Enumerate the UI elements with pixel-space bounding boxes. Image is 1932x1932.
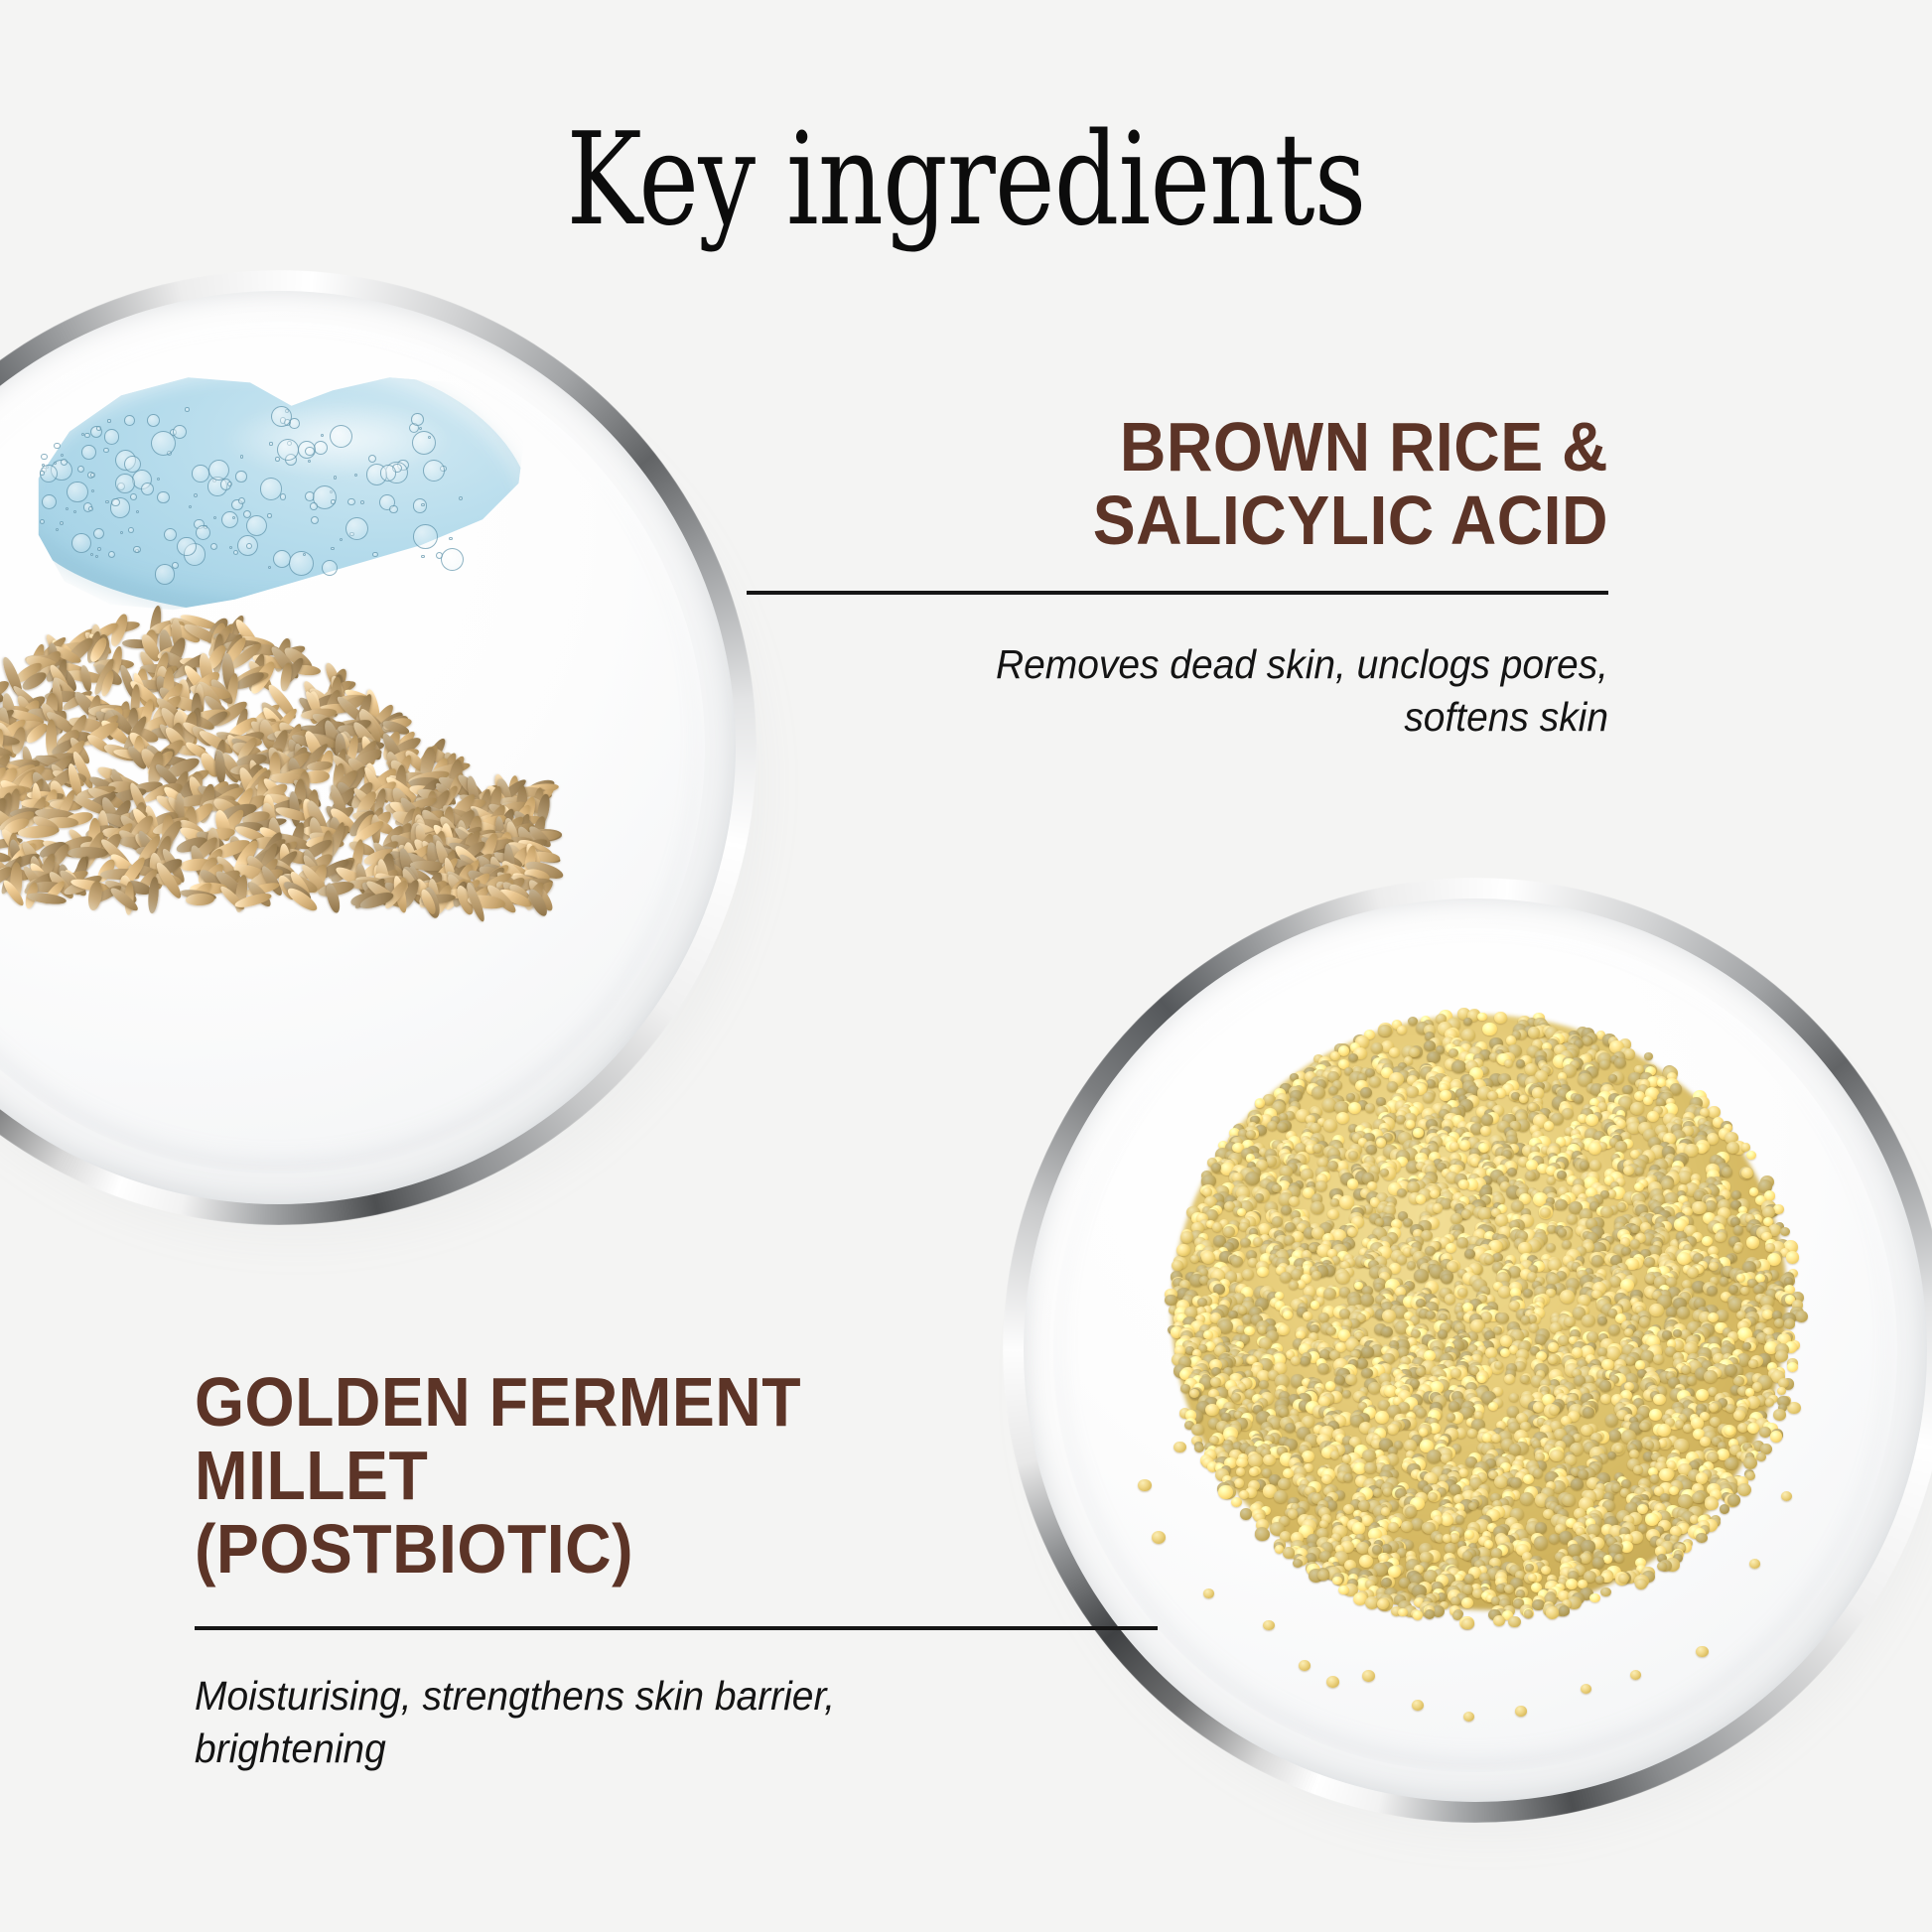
millet-seed bbox=[1404, 1440, 1417, 1451]
gel-bubble bbox=[60, 521, 64, 525]
gel-bubble bbox=[246, 515, 267, 536]
millet-seed bbox=[1622, 1085, 1632, 1094]
gel-bubble bbox=[147, 414, 160, 427]
gel-bubble bbox=[411, 413, 424, 426]
gel-bubble bbox=[66, 507, 69, 510]
millet-seed bbox=[1488, 1402, 1498, 1411]
millet-seed bbox=[1524, 1609, 1534, 1618]
millet-seed bbox=[1212, 1222, 1223, 1232]
millet-seed bbox=[1446, 1243, 1456, 1253]
millet-seed bbox=[1494, 1012, 1507, 1024]
millet-seed bbox=[1583, 1407, 1593, 1418]
millet-seed bbox=[1424, 1040, 1436, 1051]
millet-seed bbox=[1457, 1288, 1467, 1297]
millet-seed bbox=[1477, 1013, 1486, 1022]
millet-seed bbox=[1677, 1307, 1690, 1318]
millet-seed bbox=[1560, 1290, 1575, 1304]
millet-seed bbox=[1334, 1375, 1345, 1385]
gel-bubble bbox=[90, 473, 95, 478]
gel-bubble bbox=[310, 502, 318, 510]
millet-seed bbox=[1547, 1176, 1556, 1185]
gel-bubble bbox=[41, 454, 48, 461]
millet-seed bbox=[1228, 1311, 1237, 1318]
gel-bubble bbox=[90, 553, 93, 556]
millet-seed bbox=[1425, 1609, 1436, 1619]
millet-seed bbox=[1625, 1356, 1634, 1365]
millet-seed bbox=[1534, 1536, 1549, 1549]
millet-seed bbox=[1451, 1060, 1465, 1073]
millet-seed bbox=[1398, 1608, 1407, 1616]
gel-bubble bbox=[380, 465, 396, 481]
millet-seed bbox=[1696, 1472, 1708, 1483]
gel-bubble bbox=[81, 445, 96, 460]
gel-bubble bbox=[269, 442, 272, 445]
gel-bubble bbox=[107, 419, 110, 422]
millet-seed bbox=[1352, 1522, 1366, 1535]
millet-seed bbox=[1397, 1188, 1407, 1197]
gel-bubble bbox=[95, 555, 98, 558]
gel-bubble bbox=[155, 564, 175, 584]
millet-seed bbox=[1493, 1615, 1505, 1626]
millet-seed bbox=[1342, 1390, 1351, 1399]
millet-seed bbox=[1375, 1411, 1389, 1424]
blue-gel-blob bbox=[18, 359, 534, 618]
millet-seed bbox=[1482, 1023, 1496, 1035]
millet-seed bbox=[1494, 1475, 1508, 1488]
millet-seed bbox=[1644, 1257, 1655, 1267]
gel-bubble bbox=[308, 460, 311, 463]
millet-seed bbox=[1274, 1490, 1288, 1503]
millet-seed bbox=[1461, 1618, 1474, 1630]
gel-bubble bbox=[334, 476, 338, 480]
millet-seed bbox=[1608, 1324, 1620, 1335]
millet-seed bbox=[1630, 1102, 1644, 1115]
millet-seed bbox=[1720, 1277, 1728, 1285]
millet-seed bbox=[1190, 1255, 1199, 1263]
millet-seed bbox=[1588, 1142, 1601, 1154]
millet-seed bbox=[1614, 1445, 1623, 1452]
millet-seed bbox=[1288, 1509, 1299, 1519]
millet-seed bbox=[1245, 1172, 1260, 1185]
millet-seed bbox=[1635, 1167, 1644, 1174]
gel-bubble bbox=[56, 528, 59, 531]
millet-seed bbox=[1614, 1554, 1624, 1563]
millet-seed bbox=[1289, 1281, 1299, 1290]
millet-seed bbox=[1733, 1244, 1743, 1253]
gel-bubble bbox=[413, 524, 438, 549]
millet-seed bbox=[1201, 1251, 1215, 1264]
millet-seed bbox=[1780, 1227, 1790, 1236]
millet-seed bbox=[1328, 1086, 1338, 1095]
gel-bubble bbox=[421, 555, 424, 558]
millet-seed bbox=[1487, 1091, 1497, 1100]
gel-bubble bbox=[246, 543, 252, 549]
millet-seed bbox=[1678, 1494, 1693, 1508]
millet-seed bbox=[1599, 1059, 1610, 1069]
millet-seed bbox=[1600, 1206, 1612, 1217]
millet-seed bbox=[1580, 1161, 1588, 1170]
millet-seed bbox=[1369, 1076, 1381, 1087]
millet-seed bbox=[1586, 1114, 1598, 1126]
millet-seed bbox=[1599, 1380, 1612, 1392]
gel-bubble bbox=[40, 471, 45, 476]
gel-bubble bbox=[331, 547, 334, 550]
millet-seed bbox=[1255, 1528, 1270, 1542]
millet-seed bbox=[1240, 1508, 1252, 1519]
millet-seed bbox=[1406, 1086, 1419, 1098]
millet-seed bbox=[1240, 1238, 1250, 1247]
millet-seed bbox=[1687, 1376, 1696, 1385]
millet-seed bbox=[1336, 1272, 1349, 1284]
millet-seed bbox=[1725, 1457, 1738, 1469]
millet-seed bbox=[1360, 1087, 1372, 1098]
millet-seed bbox=[1657, 1562, 1667, 1571]
millet-seed bbox=[1520, 1492, 1534, 1505]
millet-seed bbox=[1491, 1548, 1503, 1559]
gel-bubble bbox=[164, 528, 177, 541]
millet-seed bbox=[1283, 1311, 1293, 1319]
millet-seed bbox=[1720, 1504, 1730, 1514]
millet-seed bbox=[1416, 1194, 1426, 1204]
gel-bubble bbox=[289, 551, 314, 576]
millet-seed bbox=[1348, 1053, 1358, 1062]
millet-seed bbox=[1562, 1494, 1576, 1506]
gel-bubble bbox=[240, 455, 243, 458]
millet-seed bbox=[1516, 1059, 1525, 1067]
gel-bubble bbox=[311, 516, 319, 524]
millet-seed bbox=[1458, 1179, 1469, 1189]
millet-seed bbox=[1600, 1394, 1611, 1404]
millet-seed bbox=[1461, 1209, 1471, 1218]
gel-bubble bbox=[177, 537, 197, 557]
millet-seed bbox=[1722, 1167, 1732, 1176]
gel-bubble bbox=[192, 465, 209, 483]
millet-seed bbox=[1765, 1398, 1775, 1407]
gel-bubble bbox=[40, 519, 45, 524]
millet-seed bbox=[1669, 1486, 1679, 1495]
millet-seed bbox=[1401, 1521, 1413, 1532]
millet-seed bbox=[1533, 1402, 1544, 1412]
millet-seed bbox=[1343, 1473, 1353, 1482]
gel-bubble bbox=[130, 493, 137, 500]
millet-seed bbox=[1618, 1574, 1628, 1583]
millet-seed bbox=[1427, 1051, 1440, 1063]
millet-seed bbox=[1202, 1187, 1212, 1196]
gel-bubble bbox=[331, 499, 335, 503]
millet-seed bbox=[1491, 1434, 1501, 1443]
gel-bubble bbox=[96, 426, 101, 431]
millet-seed bbox=[1371, 1042, 1383, 1053]
millet-seed bbox=[1555, 1199, 1568, 1211]
millet-seed bbox=[1727, 1494, 1739, 1505]
millet-seed bbox=[1726, 1142, 1739, 1154]
millet-seed bbox=[1194, 1444, 1204, 1452]
brown-rice-grains bbox=[0, 584, 546, 901]
gel-bubble bbox=[233, 550, 238, 555]
gel-bubble bbox=[267, 513, 271, 517]
millet-seed bbox=[1770, 1431, 1782, 1442]
millet-seed bbox=[1277, 1122, 1288, 1132]
gel-bubble bbox=[347, 498, 354, 505]
gel-bubble bbox=[84, 433, 89, 438]
millet-seed bbox=[1427, 1449, 1442, 1462]
millet-seed bbox=[1330, 1051, 1340, 1060]
gel-bubble bbox=[54, 462, 57, 465]
millet-seed bbox=[1523, 1474, 1534, 1484]
millet-seed bbox=[1378, 1025, 1392, 1036]
millet-seed bbox=[1639, 1422, 1649, 1431]
millet-seed bbox=[1562, 1240, 1572, 1249]
millet-seed bbox=[1550, 1449, 1564, 1462]
millet-seed bbox=[1416, 1408, 1427, 1418]
gel-bubble bbox=[128, 527, 134, 533]
millet-seed bbox=[1496, 1312, 1509, 1324]
millet-seed bbox=[1786, 1251, 1799, 1263]
millet-seed bbox=[1645, 1441, 1654, 1449]
millet-seed bbox=[1639, 1316, 1651, 1327]
millet-seed bbox=[1645, 1513, 1659, 1526]
gel-bubble bbox=[441, 548, 464, 571]
millet-seed bbox=[1753, 1285, 1763, 1294]
millet-seed bbox=[1700, 1437, 1711, 1447]
millet-seed bbox=[1532, 1087, 1544, 1098]
millet-seed bbox=[1756, 1452, 1766, 1461]
gel-bubble bbox=[372, 552, 378, 558]
millet-seed bbox=[1568, 1544, 1582, 1556]
millet-seed bbox=[1649, 1304, 1664, 1316]
millet-seed bbox=[1455, 1515, 1464, 1523]
millet-seed bbox=[1426, 1311, 1436, 1319]
gel-bubble bbox=[275, 457, 279, 461]
millet-seed bbox=[1737, 1483, 1751, 1496]
millet-seed bbox=[1449, 1401, 1460, 1412]
millet-seed bbox=[1747, 1423, 1759, 1434]
millet-seed bbox=[1449, 1048, 1458, 1057]
millet-seed bbox=[1525, 1564, 1534, 1572]
millet-seed bbox=[1519, 1095, 1528, 1103]
gel-bubble bbox=[232, 516, 235, 519]
millet-seed bbox=[1348, 1151, 1358, 1160]
millet-seed bbox=[1293, 1559, 1303, 1568]
millet-seed bbox=[1338, 1586, 1348, 1595]
millet-seed bbox=[1746, 1151, 1757, 1161]
millet-seed bbox=[1433, 1203, 1443, 1212]
gel-bubble bbox=[54, 443, 60, 449]
millet-seed bbox=[1784, 1318, 1795, 1329]
gel-bubble bbox=[419, 427, 422, 430]
millet-seed bbox=[1257, 1267, 1269, 1278]
millet-seed bbox=[1283, 1468, 1294, 1478]
millet-seed bbox=[1705, 1498, 1719, 1511]
millet-seed bbox=[1361, 1346, 1373, 1357]
gel-bubble bbox=[77, 466, 84, 473]
millet-seed bbox=[1643, 1096, 1653, 1105]
page-title: Key ingredients bbox=[194, 117, 1739, 244]
gel-bubble bbox=[221, 511, 238, 528]
gel-bubble bbox=[449, 537, 452, 540]
millet-seed bbox=[1662, 1330, 1671, 1339]
key-ingredients-infographic: Key ingredients BROWN RICE & SALICYLIC A… bbox=[0, 0, 1932, 1932]
gel-bubble bbox=[305, 447, 314, 456]
millet-seed bbox=[1242, 1269, 1254, 1280]
millet-seed bbox=[1605, 1414, 1619, 1427]
gel-bubble bbox=[124, 415, 135, 426]
millet-seed bbox=[1504, 1374, 1515, 1384]
gel-bubble bbox=[428, 436, 431, 439]
millet-seed bbox=[1272, 1184, 1281, 1193]
millet-seed bbox=[1443, 1534, 1452, 1543]
millet-seed bbox=[1533, 1468, 1543, 1478]
millet-seed bbox=[1644, 1052, 1653, 1060]
gel-bubble bbox=[151, 431, 176, 456]
gel-bubble bbox=[273, 550, 291, 568]
gel-bubble bbox=[322, 560, 338, 576]
gel-bubble bbox=[413, 498, 428, 513]
millet-seed bbox=[1589, 1593, 1600, 1603]
millet-seed bbox=[1461, 1029, 1475, 1040]
millet-seed bbox=[1495, 1214, 1508, 1226]
gel-bubble bbox=[157, 491, 169, 503]
millet-seed bbox=[1558, 1335, 1569, 1345]
millet-seed bbox=[1650, 1474, 1659, 1482]
gel-bubble bbox=[196, 525, 210, 540]
millet-seed bbox=[1373, 1488, 1382, 1497]
gel-bubble bbox=[389, 505, 398, 514]
gel-bubble bbox=[227, 482, 232, 486]
millet-seed bbox=[1728, 1285, 1738, 1294]
millet-seed bbox=[1557, 1171, 1566, 1179]
millet-seed bbox=[1191, 1424, 1204, 1436]
millet-seed bbox=[1600, 1587, 1610, 1597]
gel-bubble bbox=[235, 471, 246, 482]
millet-seed bbox=[1591, 1255, 1604, 1267]
millet-seed bbox=[1413, 1610, 1424, 1620]
millet-seed bbox=[1633, 1465, 1642, 1473]
millet-seed bbox=[1311, 1271, 1321, 1280]
millet-seed bbox=[1285, 1423, 1296, 1433]
gel-bubble bbox=[330, 425, 352, 448]
millet-seed bbox=[1210, 1377, 1221, 1387]
millet-seed bbox=[1549, 1534, 1560, 1544]
millet-seed bbox=[1520, 1375, 1530, 1384]
millet-seed bbox=[1508, 1616, 1521, 1628]
gel-bubble bbox=[124, 456, 141, 473]
millet-seed bbox=[1332, 1577, 1342, 1586]
millet-seed bbox=[1587, 1331, 1598, 1342]
gel-bubble bbox=[423, 460, 445, 482]
gel-bubble bbox=[103, 448, 109, 454]
millet-seed bbox=[1787, 1362, 1798, 1373]
millet-seed bbox=[1566, 1579, 1578, 1589]
millet-seed bbox=[1743, 1456, 1757, 1469]
millet-seed bbox=[1263, 1454, 1275, 1465]
millet-seed bbox=[1231, 1497, 1242, 1507]
millet-seed bbox=[1630, 1225, 1640, 1234]
millet-seed bbox=[1775, 1350, 1788, 1362]
gel-bubble bbox=[459, 496, 463, 500]
millet-seed bbox=[1236, 1467, 1245, 1476]
millet-seed bbox=[1795, 1311, 1808, 1322]
millet-seed bbox=[1467, 1429, 1476, 1438]
gel-bubble bbox=[104, 429, 119, 444]
millet-seed bbox=[1521, 1315, 1531, 1324]
millet-seed bbox=[1559, 1605, 1571, 1616]
golden-millet-seeds bbox=[1114, 975, 1849, 1710]
gel-bubble bbox=[93, 528, 104, 539]
millet-seed bbox=[1359, 1555, 1373, 1568]
millet-seed bbox=[1525, 1171, 1536, 1180]
millet-seed bbox=[1480, 1126, 1491, 1136]
millet-seed bbox=[1347, 1178, 1358, 1188]
millet-seed bbox=[1692, 1201, 1706, 1214]
millet-seed bbox=[1318, 1312, 1329, 1322]
millet-seed bbox=[1236, 1457, 1247, 1467]
gel-bubble bbox=[421, 503, 424, 506]
millet-seed bbox=[1749, 1187, 1758, 1196]
millet-seed bbox=[1383, 1487, 1393, 1496]
millet-seed bbox=[1615, 1141, 1628, 1153]
gel-bubble bbox=[67, 482, 88, 503]
gel-bubble bbox=[189, 505, 193, 509]
gel-bubble bbox=[260, 478, 282, 499]
millet-seed bbox=[1327, 1209, 1339, 1220]
gel-bubble bbox=[185, 407, 190, 412]
millet-seed bbox=[1223, 1226, 1235, 1237]
millet-seed bbox=[1696, 1533, 1708, 1544]
millet-seed bbox=[1614, 1057, 1626, 1068]
millet-seed bbox=[1653, 1394, 1665, 1405]
millet-seed bbox=[1696, 1389, 1709, 1401]
millet-seed bbox=[1249, 1467, 1258, 1476]
millet-seed bbox=[1564, 1316, 1575, 1326]
millet-seed bbox=[1484, 1255, 1494, 1264]
millet-seed bbox=[1571, 1478, 1584, 1490]
millet-seed bbox=[1414, 1269, 1428, 1282]
millet-seed bbox=[1635, 1579, 1647, 1589]
gel-bubble bbox=[360, 500, 364, 504]
gel-bubble bbox=[111, 498, 120, 507]
